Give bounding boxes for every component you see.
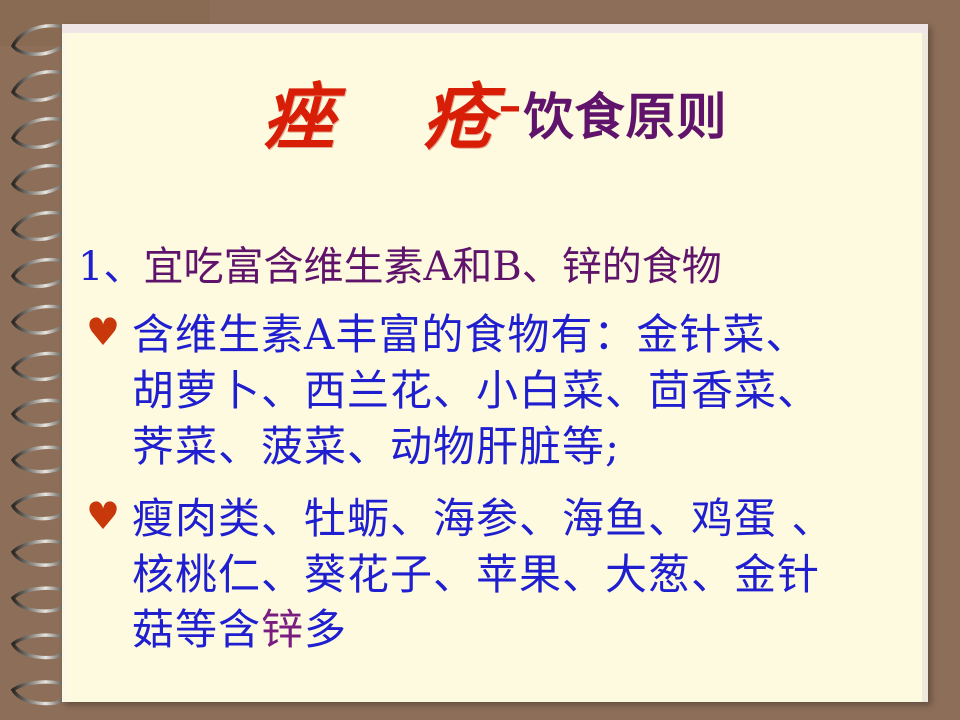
accented-char: 锌 [261,605,304,654]
page-title: 痤疮–饮食原则 [62,58,928,163]
title-char-2: 疮 [423,74,497,159]
title-char-1: 痤 [262,74,336,159]
title-subtitle: 饮食原则 [524,87,728,146]
list-item: ♥ 瘦肉类、牡蛎、海参、海鱼、鸡蛋 、 核桃仁、葵花子、苹果、大葱、金针 菇等含… [76,491,912,659]
bullet-line-accented: 菇等含锌多 [132,602,912,658]
numbered-item-1: 1、宜吃富含维生素A和B、锌的食物 [76,242,912,293]
notebook-page: 痤疮–饮食原则 1、宜吃富含维生素A和B、锌的食物 ♥ 含维生素A丰富的食物有：… [62,24,928,702]
bullet-line: 含维生素A丰富的食物有：金针菜、 [132,307,912,363]
bullet-line: 核桃仁、葵花子、苹果、大葱、金针 [132,547,912,603]
title-dash: – [497,78,524,132]
heart-bullet-icon: ♥ [86,497,120,535]
item-text: 宜吃富含维生素A和B、锌的食物 [143,244,721,290]
heart-bullet-icon: ♥ [86,313,120,351]
bullet-line: 瘦肉类、牡蛎、海参、海鱼、鸡蛋 、 [132,491,912,547]
bullet-line: 胡萝卜、西兰花、小白菜、茴香菜、 [132,363,912,419]
page-top-strip [62,24,928,33]
slide-canvas: 痤疮–饮食原则 1、宜吃富含维生素A和B、锌的食物 ♥ 含维生素A丰富的食物有：… [0,0,960,720]
item-number: 1、 [78,244,143,290]
list-item: ♥ 含维生素A丰富的食物有：金针菜、 胡萝卜、西兰花、小白菜、茴香菜、 荠菜、菠… [76,307,912,475]
bullet-line: 荠菜、菠菜、动物肝脏等; [132,419,912,475]
body-content: 1、宜吃富含维生素A和B、锌的食物 ♥ 含维生素A丰富的食物有：金针菜、 胡萝卜… [76,242,912,674]
